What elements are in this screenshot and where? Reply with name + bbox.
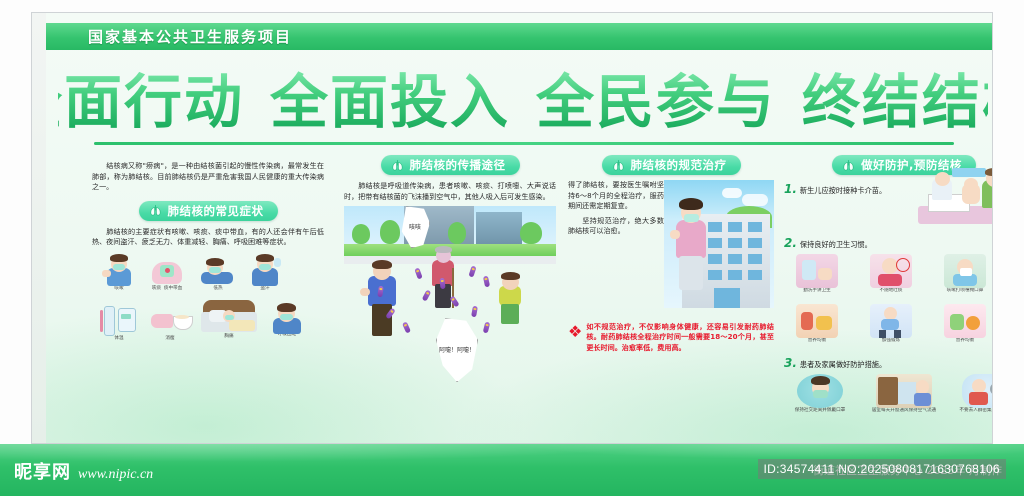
- hospital-scene: [664, 180, 774, 308]
- lungs-icon: [390, 159, 405, 172]
- program-band: 国家基本公共卫生服务项目: [46, 23, 993, 50]
- symptom-caption: 胸痛: [198, 334, 260, 340]
- germ-icon: [422, 290, 432, 302]
- hygiene-caption: 咳嗽打喷嚏掩口鼻: [932, 288, 993, 294]
- site-logo-cn: 昵享网: [14, 458, 71, 484]
- germ-icon: [483, 276, 490, 288]
- hygiene-caption: 勤洗手讲卫生: [784, 288, 850, 294]
- exercise-icon: [870, 304, 912, 338]
- no-spitting-icon: [870, 254, 912, 288]
- site-logo-url: www.nipic.cn: [78, 467, 153, 483]
- protection-caption: 不要去人群密集的公共场所: [950, 408, 993, 414]
- symptoms-body: 肺结核的主要症状有咳嗽、咳痰、痰中带血，有的人还会伴有午后低热、夜间盗汗、疲乏无…: [92, 227, 324, 248]
- lungs-icon: [611, 159, 626, 172]
- heading-transmission: 肺结核的传播途径: [381, 155, 520, 175]
- prevention-item-text: 患者及家属做好防护措施。: [800, 360, 886, 370]
- balanced-diet-icon: [944, 304, 986, 338]
- poster-canvas: 国家基本公共卫生服务项目 全面行动 全面投入 全民参与 终结结核 结核病又称"痨…: [0, 0, 1024, 496]
- protection-row: 保持社交距离并佩戴口罩 居室每天开窗通风保持空气流通: [784, 374, 993, 426]
- treatment-body-1: 得了肺结核，要按医生嘱咐坚持6～8个月的全程治疗，服药期间还需定期复查。: [568, 180, 664, 212]
- watermark-id: ID:34574411 NO:20250808171630768106: [758, 459, 1006, 479]
- lungs-icon: [841, 159, 856, 172]
- prevention-item-number: 3.: [784, 356, 797, 370]
- hygiene-caption: 不随地吐痰: [858, 288, 924, 294]
- footer-bar: 昵享网 www.nipic.cn 街道社区卫生服务中心 2025年 月制作 ID…: [0, 444, 1024, 496]
- symptom-caption: 低热: [196, 286, 240, 292]
- nutrition-icon: [796, 304, 838, 338]
- column-prevention: 做好防护,预防结核 1. 新生儿应按时接种卡介苗。: [784, 155, 993, 426]
- symptoms-illustration: 咳嗽 咳痰 痰中带血: [92, 252, 324, 356]
- lungs-icon: [148, 204, 163, 217]
- heading-transmission-label: 肺结核的传播途径: [410, 157, 506, 173]
- symptom-caption: 咳痰 痰中带血: [142, 286, 192, 292]
- prevention-item-text: 保持良好的卫生习惯。: [800, 240, 872, 250]
- alert-diamond-icon: ❖: [568, 322, 582, 342]
- heading-symptoms-label: 肺结核的常见症状: [168, 203, 264, 219]
- protection-caption: 保持社交距离并佩戴口罩: [784, 408, 856, 414]
- prevention-item-text: 新生儿应按时接种卡介苗。: [800, 186, 886, 196]
- germ-icon: [402, 322, 411, 334]
- avoid-crowds-icon: [962, 374, 993, 408]
- column-transmission: 肺结核的传播途径 肺结核是呼吸道传染病，患者咳嗽、咳痰、打喷嚏、大声说话时，把带…: [344, 155, 556, 414]
- program-band-title: 国家基本公共卫生服务项目: [88, 26, 292, 47]
- washing-hands-icon: [796, 254, 838, 288]
- heading-treatment-label: 肺结核的规范治疗: [631, 157, 727, 173]
- column-treatment: 肺结核的规范治疗 得了肺结核，要按医生嘱咐坚持6～8个月的全程治疗，服药期间还需…: [568, 155, 774, 353]
- bubble-cough-text: 咳咳: [409, 224, 421, 231]
- hygiene-row-1: 勤洗手讲卫生 不随地吐痰 咳嗽打喷嚏掩口鼻: [784, 254, 993, 302]
- headline-divider: [94, 142, 954, 145]
- germ-icon: [414, 268, 422, 280]
- scene-tree: [520, 222, 542, 244]
- vaccination-illustration: [918, 168, 993, 226]
- transmission-illustration: 咳咳: [344, 206, 556, 414]
- protection-caption: 居室每天开窗通风保持空气流通: [864, 408, 944, 414]
- scene-tree: [352, 224, 370, 244]
- prevention-item-number: 1.: [784, 182, 797, 196]
- symptom-caption: 咳嗽: [96, 286, 142, 292]
- symptom-caption: 消瘦: [146, 336, 194, 342]
- headline-part-2: 全面投入: [270, 55, 510, 139]
- hygiene-caption: 营养均衡: [784, 338, 850, 344]
- headline-part-1: 全面行动: [31, 55, 244, 139]
- scene-tree: [448, 222, 466, 244]
- wear-mask-icon: [797, 374, 843, 408]
- intro-paragraph: 结核病又称"痨病"，是一种由结核菌引起的慢性传染病，最常发生在肺部，称为肺结核。…: [92, 161, 324, 193]
- prevention-item-2: 2. 保持良好的卫生习惯。: [784, 236, 993, 250]
- cover-cough-icon: [944, 254, 986, 288]
- bubble-sneeze-text: 阿嚏！阿嚏！: [439, 347, 475, 354]
- symptom-caption: 盗汗: [242, 286, 288, 292]
- germ-icon: [483, 322, 491, 334]
- hygiene-row-2: 营养均衡 加强锻炼 营养均衡: [784, 304, 993, 352]
- headline-part-3: 全民参与: [536, 55, 776, 139]
- treatment-illustration: 得了肺结核，要按医生嘱咐坚持6～8个月的全程治疗，服药期间还需定期复查。 坚持规…: [568, 180, 774, 320]
- prevention-item-1: 1. 新生儿应按时接种卡介苗。: [784, 182, 993, 230]
- germ-icon: [439, 278, 445, 289]
- germ-icon: [468, 266, 476, 278]
- prevention-item-3: 3. 患者及家属做好防护措施。: [784, 356, 993, 370]
- treatment-body-2: 坚持规范治疗，绝大多数肺结核可以治愈。: [568, 216, 664, 237]
- poster-headline: 全面行动 全面投入 全民参与 终结结核: [58, 61, 988, 133]
- transmission-body: 肺结核是呼吸道传染病，患者咳嗽、咳痰、打喷嚏、大声说话时，把带有结核菌的飞沫播到…: [344, 181, 556, 202]
- symptom-caption-text: 咳痰: [152, 286, 161, 291]
- symptom-caption: 体温: [96, 336, 142, 342]
- treatment-alert: 如不规范治疗，不仅影响身体健康，还容易引发耐药肺结核。耐药肺结核全程治疗时间一般…: [586, 322, 774, 353]
- column-symptoms: 结核病又称"痨病"，是一种由结核菌引起的慢性传染病，最常发生在肺部，称为肺结核。…: [92, 155, 324, 444]
- germ-icon: [471, 306, 478, 318]
- prevention-item-number: 2.: [784, 236, 797, 250]
- poster-board: 国家基本公共卫生服务项目 全面行动 全面投入 全民参与 终结结核 结核病又称"痨…: [31, 12, 993, 444]
- hygiene-caption: 加强锻炼: [858, 338, 924, 344]
- headline-part-4: 终结结核: [802, 55, 993, 139]
- open-window-icon: [876, 374, 932, 408]
- hygiene-caption: 营养均衡: [932, 338, 993, 344]
- symptom-caption-text: 痰中带血: [164, 286, 182, 291]
- scene-building: [476, 212, 522, 246]
- speech-bubble-sneeze: 阿嚏！阿嚏！: [436, 318, 478, 382]
- site-logo[interactable]: 昵享网 www.nipic.cn: [14, 458, 153, 484]
- scene-tree: [380, 220, 400, 244]
- heading-treatment: 肺结核的规范治疗: [602, 155, 741, 175]
- heading-symptoms: 肺结核的常见症状: [139, 201, 278, 221]
